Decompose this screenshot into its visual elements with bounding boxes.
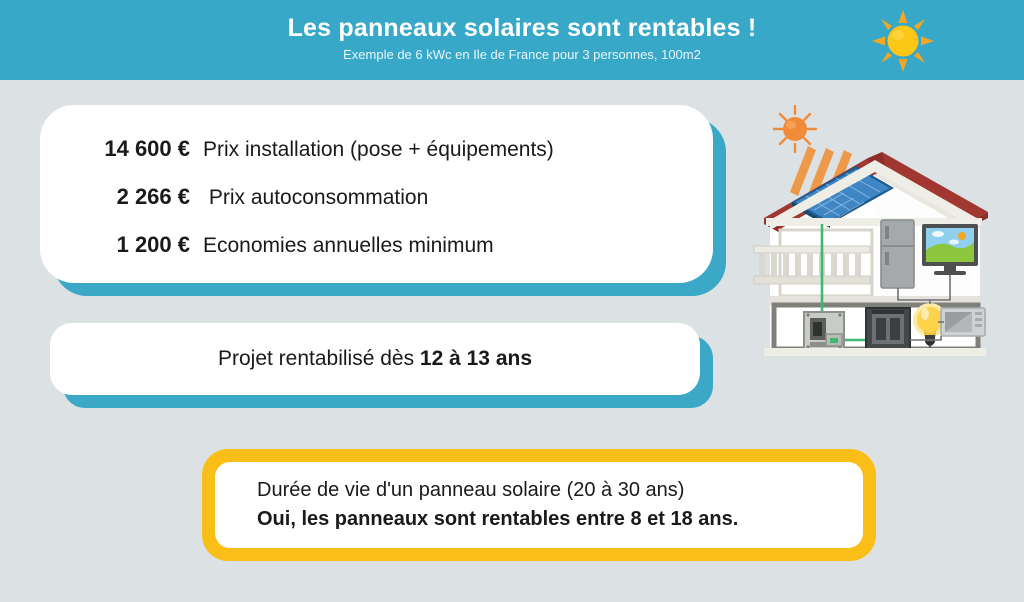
illustration-sun-icon: [774, 106, 816, 152]
battery-cabinet: [866, 308, 910, 350]
price-row: 14 600 € Prix installation (pose + équip…: [40, 136, 713, 174]
price-amount: 1 200 €: [40, 232, 190, 258]
page-header: Les panneaux solaires sont rentables ! E…: [0, 0, 1024, 80]
page-title: Les panneaux solaires sont rentables !: [0, 13, 1024, 43]
lifetime-line-2: Oui, les panneaux sont rentables entre 8…: [257, 505, 863, 534]
price-label: Prix autoconsommation: [190, 186, 428, 210]
sun-icon: [872, 10, 934, 72]
price-card: 14 600 € Prix installation (pose + équip…: [40, 105, 713, 283]
price-row: 1 200 € Economies annuelles minimum: [40, 232, 713, 270]
refrigerator-icon: [881, 220, 914, 288]
header-text-block: Les panneaux solaires sont rentables ! E…: [0, 0, 1024, 64]
payback-text-normal: Projet rentabilisé dès: [218, 347, 420, 370]
price-amount: 2 266 €: [40, 184, 190, 210]
lifetime-card-inner: Durée de vie d'un panneau solaire (20 à …: [215, 462, 863, 548]
price-row: 2 266 € Prix autoconsommation: [40, 184, 713, 222]
payback-text: Projet rentabilisé dès 12 à 13 ans: [218, 347, 532, 371]
lifetime-card: Durée de vie d'un panneau solaire (20 à …: [202, 449, 876, 561]
microwave-icon: [941, 308, 985, 336]
solar-house-illustration: [748, 100, 1000, 362]
page-subtitle: Exemple de 6 kWc en Ile de France pour 3…: [0, 43, 1024, 64]
payback-card: Projet rentabilisé dès 12 à 13 ans: [50, 323, 700, 395]
price-label: Prix installation (pose + équipements): [190, 138, 554, 162]
price-row-list: 14 600 € Prix installation (pose + équip…: [40, 131, 713, 270]
payback-text-bold: 12 à 13 ans: [420, 347, 532, 370]
price-label: Economies annuelles minimum: [190, 234, 494, 258]
price-amount: 14 600 €: [40, 136, 190, 162]
inverter-box: [804, 312, 844, 350]
lifetime-line-1: Durée de vie d'un panneau solaire (20 à …: [257, 476, 863, 505]
